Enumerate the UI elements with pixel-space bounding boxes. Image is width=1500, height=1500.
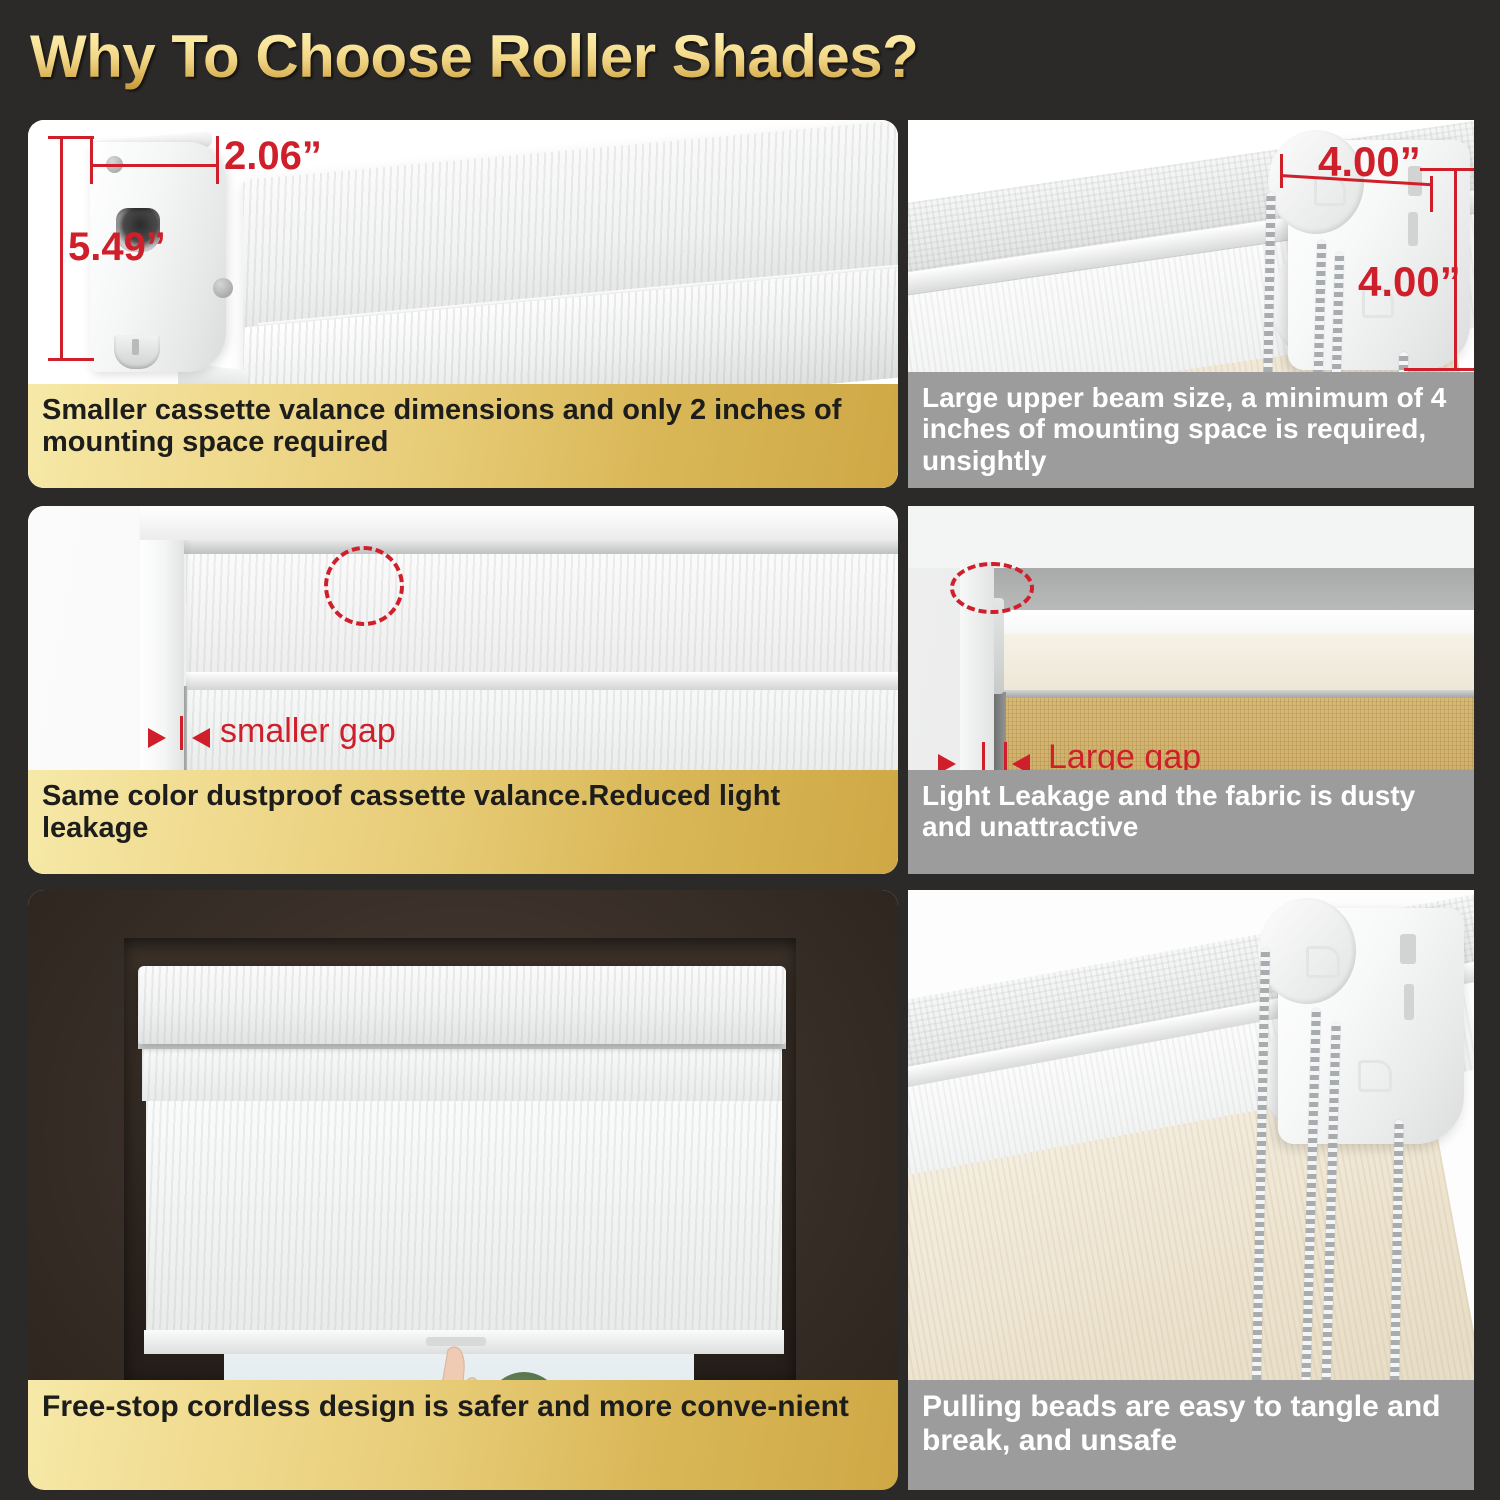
caption-top-right: Large upper beam size, a minimum of 4 in… <box>908 372 1474 488</box>
width-dim-tick-left <box>90 136 93 184</box>
gap-marker-line <box>180 716 183 750</box>
height-dimension-label: 5.49” <box>68 225 166 270</box>
detail-highlight-circle <box>324 546 404 626</box>
panel-bottom-left: Free-stop cordless design is safer and m… <box>28 890 898 1490</box>
beam-width-tick-left <box>1280 154 1283 188</box>
beam-width-label: 4.00” <box>1318 138 1421 186</box>
height-dim-tick-bottom <box>48 358 94 361</box>
panel-mid-right: Large gap Light Leakage and the fabric i… <box>908 506 1474 874</box>
beam-width-tick-right <box>1430 176 1433 212</box>
beam-height-tick-top <box>1420 168 1474 171</box>
caption-bottom-left: Free-stop cordless design is safer and m… <box>28 1380 898 1490</box>
width-dimension-label: 2.06” <box>224 134 322 179</box>
comparison-grid: 2.06” 5.49” Smaller cassette valance dim… <box>0 112 1500 1500</box>
panel-bottom-right: Pulling beads are easy to tangle and bre… <box>908 890 1474 1490</box>
panel-top-left: 2.06” 5.49” Smaller cassette valance dim… <box>28 120 898 488</box>
caption-bottom-right: Pulling beads are easy to tangle and bre… <box>908 1380 1474 1490</box>
caption-mid-right: Light Leakage and the fabric is dusty an… <box>908 770 1474 874</box>
gap-arrow-left <box>192 728 210 748</box>
caption-top-left: Smaller cassette valance dimensions and … <box>28 384 898 488</box>
gap-arrow-right <box>148 728 166 748</box>
page-title: Why To Choose Roller Shades? <box>30 22 918 91</box>
width-dim-tick-right <box>216 136 219 184</box>
height-dim-tick-top <box>48 136 94 139</box>
panel-top-right: 4.00” 4.00” Large upper beam size, a min… <box>908 120 1474 488</box>
smaller-gap-label: smaller gap <box>220 712 396 751</box>
page-header: Why To Choose Roller Shades? <box>0 0 1500 112</box>
width-dim-line <box>90 164 218 167</box>
caption-mid-left: Same color dustproof cassette valance.Re… <box>28 770 898 874</box>
height-dim-line <box>60 136 63 360</box>
beam-height-tick-bottom <box>1404 368 1474 371</box>
detail-highlight-circle <box>950 562 1034 614</box>
beam-height-label: 4.00” <box>1358 258 1461 306</box>
panel-mid-left: smaller gap Same color dustproof cassett… <box>28 506 898 874</box>
